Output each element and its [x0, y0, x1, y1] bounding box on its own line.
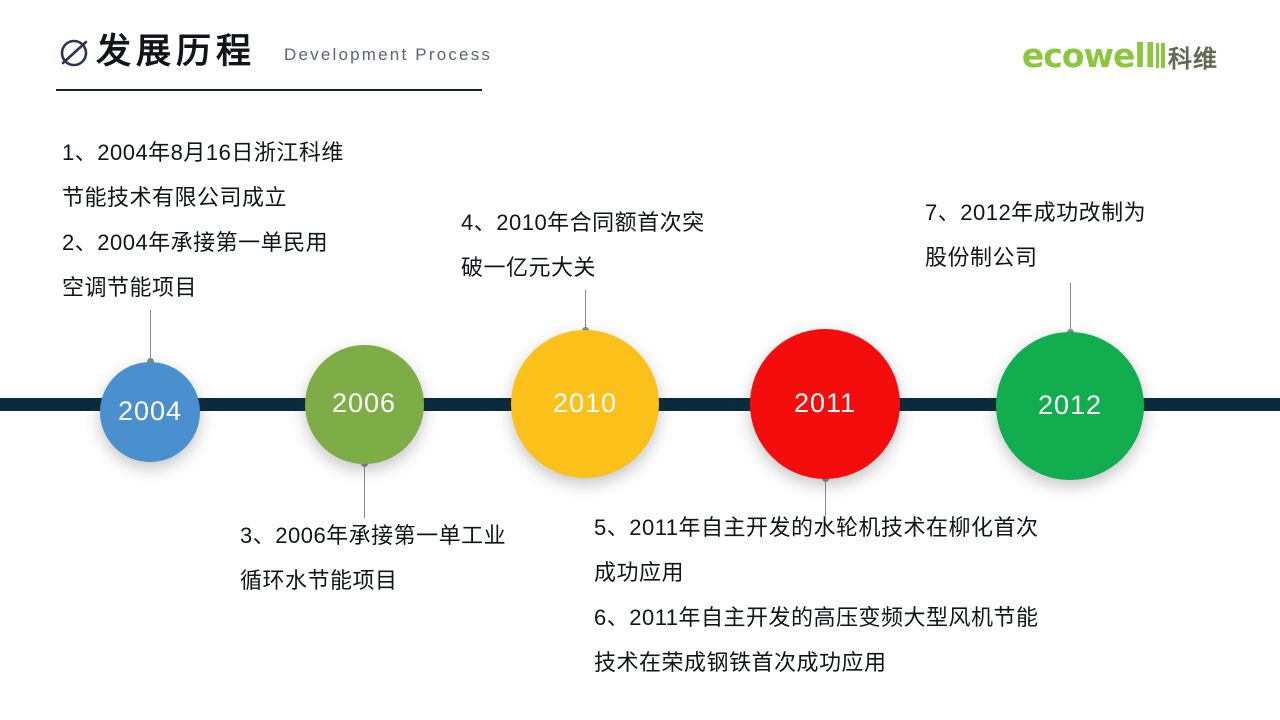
slide-canvas: 发展历程 Development Process ecowell 科维 2004… [0, 0, 1280, 720]
connector-2010 [585, 290, 586, 331]
page-title: 发展历程 [96, 29, 256, 75]
connector-2012 [1070, 283, 1071, 333]
timeline-node-year-label: 2011 [794, 390, 856, 417]
timeline-node-2006[interactable]: 2006 [305, 345, 424, 464]
note-line: 6、2011年自主开发的高压变频大型风机节能 [594, 595, 1039, 640]
slide-header: 发展历程 Development Process ecowell 科维 [0, 0, 1280, 110]
note-line: 空调节能项目 [62, 265, 344, 310]
note-line: 3、2006年承接第一单工业 [240, 513, 506, 558]
note-line: 节能技术有限公司成立 [62, 175, 344, 220]
timeline-node-2012[interactable]: 2012 [996, 332, 1144, 480]
note-line: 7、2012年成功改制为 [925, 190, 1146, 235]
timeline-node-2004[interactable]: 2004 [100, 362, 200, 462]
note-5-6: 5、2011年自主开发的水轮机技术在柳化首次成功应用6、2011年自主开发的高压… [594, 505, 1039, 685]
note-line: 成功应用 [594, 550, 1039, 595]
note-4: 4、2010年合同额首次突破一亿元大关 [461, 200, 705, 290]
note-line: 1、2004年8月16日浙江科维 [62, 130, 344, 175]
page-subtitle: Development Process [284, 44, 492, 66]
note-line: 循环水节能项目 [240, 558, 506, 603]
note-line: 4、2010年合同额首次突 [461, 200, 705, 245]
connector-2006 [364, 463, 365, 518]
company-logo: ecowell 科维 [1022, 36, 1218, 75]
note-line: 技术在荣成钢铁首次成功应用 [594, 640, 1039, 685]
timeline-node-year-label: 2006 [332, 390, 396, 417]
timeline-node-2010[interactable]: 2010 [511, 330, 659, 478]
timeline-node-year-label: 2004 [118, 398, 182, 425]
note-7: 7、2012年成功改制为股份制公司 [925, 190, 1146, 280]
logo-bars-icon [1156, 43, 1165, 68]
timeline-node-year-label: 2010 [553, 390, 617, 417]
slashed-circle-icon [58, 36, 92, 70]
note-line: 5、2011年自主开发的水轮机技术在柳化首次 [594, 505, 1039, 550]
note-line: 股份制公司 [925, 235, 1146, 280]
logo-wordmark-cn: 科维 [1168, 39, 1218, 74]
note-1-2: 1、2004年8月16日浙江科维节能技术有限公司成立2、2004年承接第一单民用… [62, 130, 344, 310]
note-line: 破一亿元大关 [461, 245, 705, 290]
title-underline-rule [56, 89, 482, 91]
timeline-node-2011[interactable]: 2011 [750, 329, 900, 479]
connector-2004 [150, 310, 151, 362]
logo-wordmark: ecowell [1022, 36, 1155, 75]
timeline-node-year-label: 2012 [1038, 392, 1102, 419]
note-line: 2、2004年承接第一单民用 [62, 220, 344, 265]
note-3: 3、2006年承接第一单工业循环水节能项目 [240, 513, 506, 603]
